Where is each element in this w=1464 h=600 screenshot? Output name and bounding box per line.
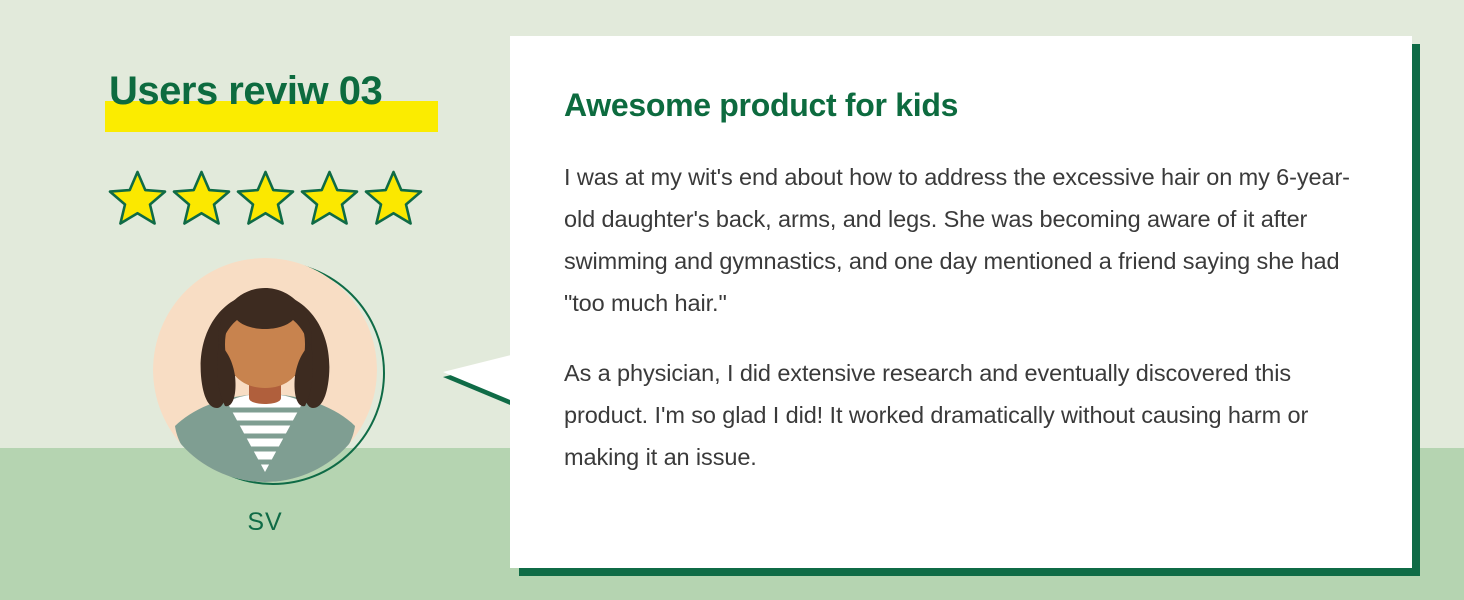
review-paragraph: As a physician, I did extensive research… xyxy=(564,352,1366,478)
star-icon xyxy=(236,169,295,225)
star-icon xyxy=(364,169,423,225)
avatar xyxy=(153,258,393,498)
review-card: Awesome product for kids I was at my wit… xyxy=(510,36,1412,568)
review-testimonial-banner: Users reviw 03 xyxy=(0,0,1464,600)
section-title-text: Users reviw 03 xyxy=(109,66,449,116)
star-rating xyxy=(108,166,424,228)
star-icon xyxy=(172,169,231,225)
star-icon xyxy=(300,169,359,225)
speech-bubble-tail xyxy=(443,352,515,404)
review-paragraph: I was at my wit's end about how to addre… xyxy=(564,156,1366,324)
reviewer-panel: Users reviw 03 xyxy=(0,0,510,600)
star-icon xyxy=(108,169,167,225)
section-title: Users reviw 03 xyxy=(105,66,445,136)
reviewer-initials: SV xyxy=(153,508,377,537)
review-card-content: Awesome product for kids I was at my wit… xyxy=(510,36,1412,568)
review-heading: Awesome product for kids xyxy=(564,84,1366,126)
avatar-illustration xyxy=(153,258,377,482)
